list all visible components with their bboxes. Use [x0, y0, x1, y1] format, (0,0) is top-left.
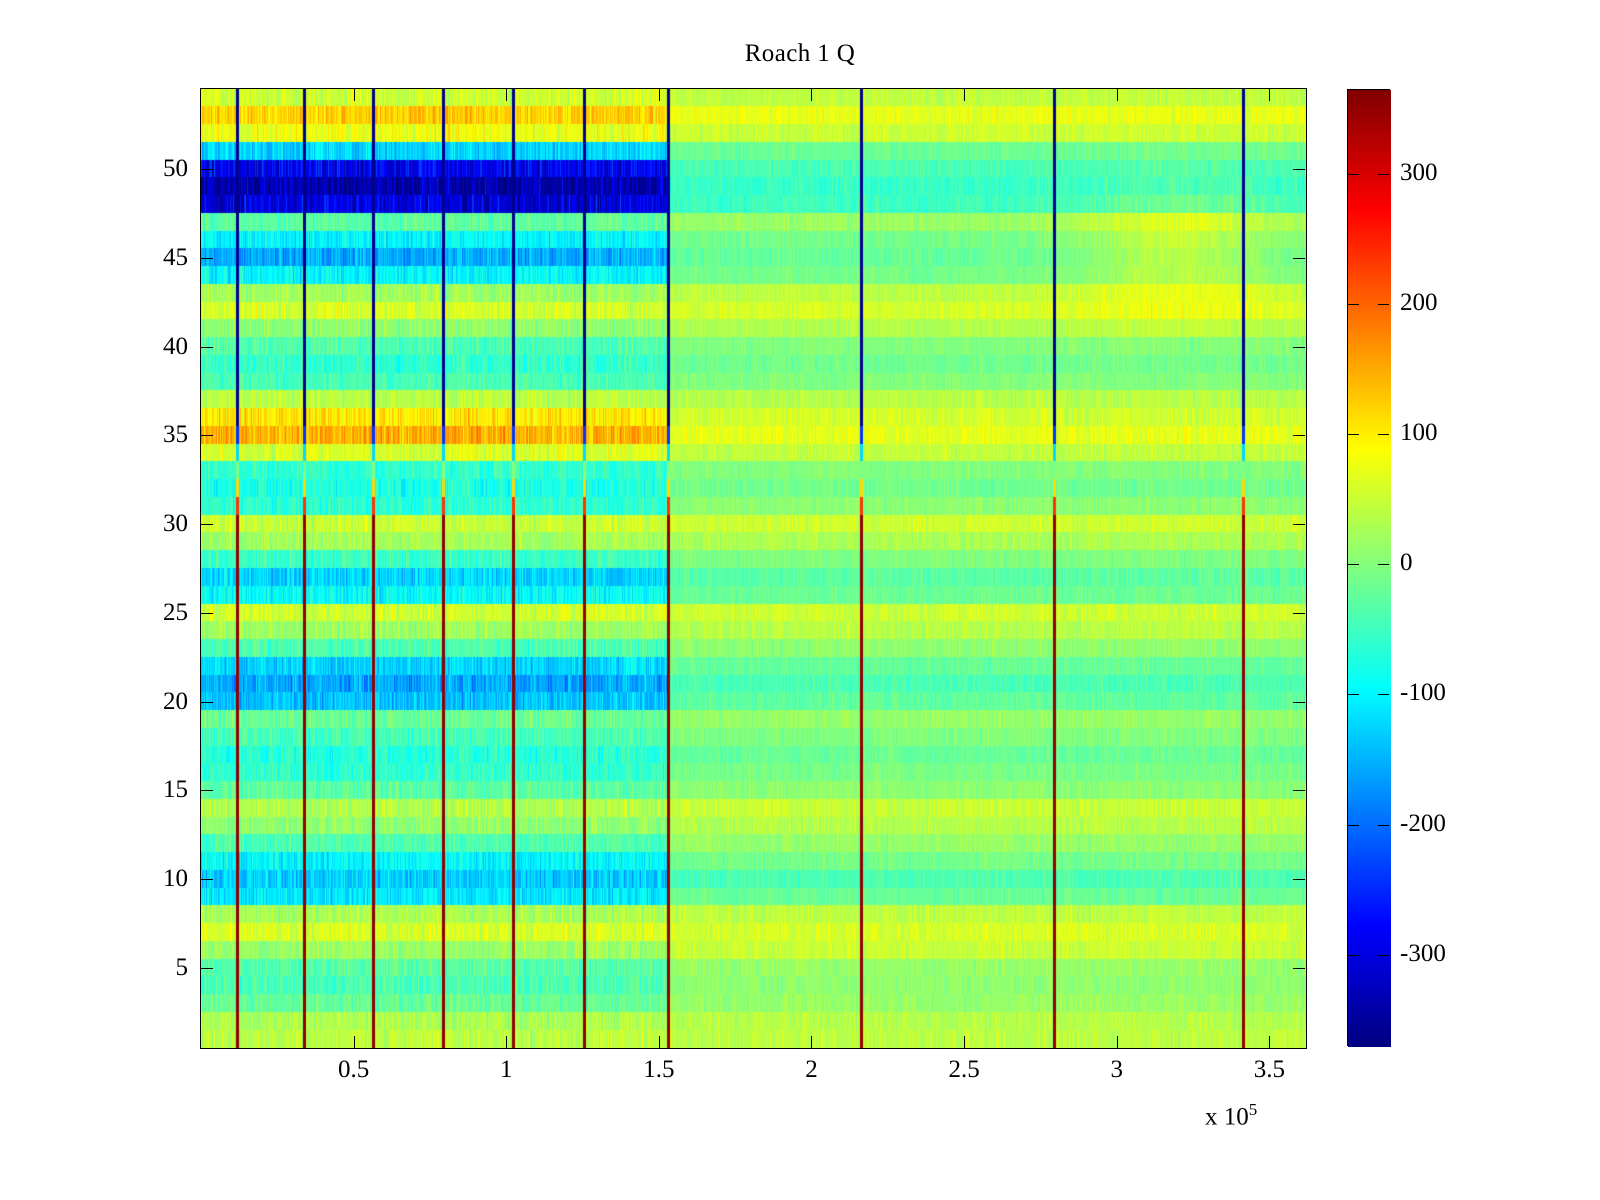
- y-tick-mark: [201, 258, 213, 259]
- colorbar-tick-mark: [1378, 564, 1389, 565]
- y-tick-mark: [1293, 524, 1305, 525]
- colorbar-tick-mark: [1348, 564, 1359, 565]
- y-tick-label: 5: [108, 954, 188, 982]
- x-tick-mark: [506, 89, 507, 101]
- y-tick-mark: [201, 435, 213, 436]
- y-tick-mark: [201, 347, 213, 348]
- x-tick-mark: [1117, 1036, 1118, 1048]
- y-tick-mark: [201, 879, 213, 880]
- colorbar-gradient: [1347, 89, 1390, 1046]
- x-tick-mark: [964, 89, 965, 101]
- colorbar-tick-mark: [1348, 825, 1359, 826]
- heatmap-image[interactable]: [201, 89, 1306, 1048]
- x-tick-mark: [1269, 89, 1270, 101]
- y-tick-mark: [201, 968, 213, 969]
- colorbar-tick-mark: [1378, 304, 1389, 305]
- y-tick-label: 30: [108, 510, 188, 538]
- x-tick-label: 2.5: [948, 1056, 979, 1084]
- colorbar-tick-label: -300: [1400, 940, 1446, 968]
- colorbar-tick-mark: [1348, 174, 1359, 175]
- y-tick-label: 25: [108, 599, 188, 627]
- y-tick-mark: [1293, 347, 1305, 348]
- x-tick-label: 3: [1110, 1056, 1123, 1084]
- colorbar-tick-mark: [1378, 955, 1389, 956]
- x-exponent-prefix: x 10: [1205, 1103, 1249, 1130]
- y-tick-mark: [201, 524, 213, 525]
- colorbar-canvas: [1348, 90, 1391, 1047]
- colorbar-tick-mark: [1348, 434, 1359, 435]
- y-tick-mark: [1293, 879, 1305, 880]
- colorbar-tick-mark: [1378, 825, 1389, 826]
- x-tick-label: 0.5: [338, 1056, 369, 1084]
- figure-root: Roach 1 Q 5101520253035404550 0.511.522.…: [0, 0, 1600, 1200]
- x-tick-mark: [506, 1036, 507, 1048]
- y-tick-mark: [1293, 258, 1305, 259]
- y-tick-mark: [201, 790, 213, 791]
- colorbar-tick-label: -200: [1400, 810, 1446, 838]
- y-tick-label: 35: [108, 421, 188, 449]
- colorbar-tick-label: -100: [1400, 679, 1446, 707]
- colorbar-tick-mark: [1378, 174, 1389, 175]
- colorbar-tick-mark: [1348, 955, 1359, 956]
- y-tick-label: 45: [108, 244, 188, 272]
- x-tick-mark: [811, 89, 812, 101]
- y-tick-label: 50: [108, 155, 188, 183]
- x-tick-mark: [354, 1036, 355, 1048]
- y-tick-mark: [1293, 702, 1305, 703]
- y-tick-mark: [1293, 790, 1305, 791]
- x-axis-exponent-label: x 105: [1205, 1100, 1257, 1131]
- y-tick-mark: [201, 169, 213, 170]
- colorbar-tick-label: 200: [1400, 289, 1438, 317]
- colorbar-tick-mark: [1378, 694, 1389, 695]
- x-tick-label: 3.5: [1254, 1056, 1285, 1084]
- y-tick-label: 10: [108, 865, 188, 893]
- x-tick-mark: [964, 1036, 965, 1048]
- page-title: Roach 1 Q: [0, 40, 1600, 68]
- y-tick-label: 20: [108, 688, 188, 716]
- y-tick-mark: [1293, 613, 1305, 614]
- x-tick-mark: [354, 89, 355, 101]
- x-tick-label: 1: [500, 1056, 513, 1084]
- heatmap-axes[interactable]: [200, 88, 1307, 1049]
- y-tick-label: 40: [108, 333, 188, 361]
- x-tick-mark: [811, 1036, 812, 1048]
- x-tick-label: 2: [805, 1056, 818, 1084]
- y-tick-mark: [201, 613, 213, 614]
- x-tick-label: 1.5: [643, 1056, 674, 1084]
- colorbar-tick-label: 0: [1400, 549, 1413, 577]
- x-tick-mark: [659, 1036, 660, 1048]
- x-tick-mark: [1269, 1036, 1270, 1048]
- x-exponent-power: 5: [1249, 1100, 1258, 1119]
- x-tick-mark: [659, 89, 660, 101]
- y-tick-mark: [201, 702, 213, 703]
- colorbar-tick-mark: [1348, 694, 1359, 695]
- colorbar-tick-label: 100: [1400, 419, 1438, 447]
- colorbar[interactable]: [1347, 89, 1390, 1046]
- y-tick-mark: [1293, 435, 1305, 436]
- x-tick-mark: [1117, 89, 1118, 101]
- colorbar-tick-label: 300: [1400, 159, 1438, 187]
- colorbar-tick-mark: [1348, 304, 1359, 305]
- y-tick-mark: [1293, 169, 1305, 170]
- colorbar-tick-mark: [1378, 434, 1389, 435]
- y-tick-label: 15: [108, 776, 188, 804]
- y-tick-mark: [1293, 968, 1305, 969]
